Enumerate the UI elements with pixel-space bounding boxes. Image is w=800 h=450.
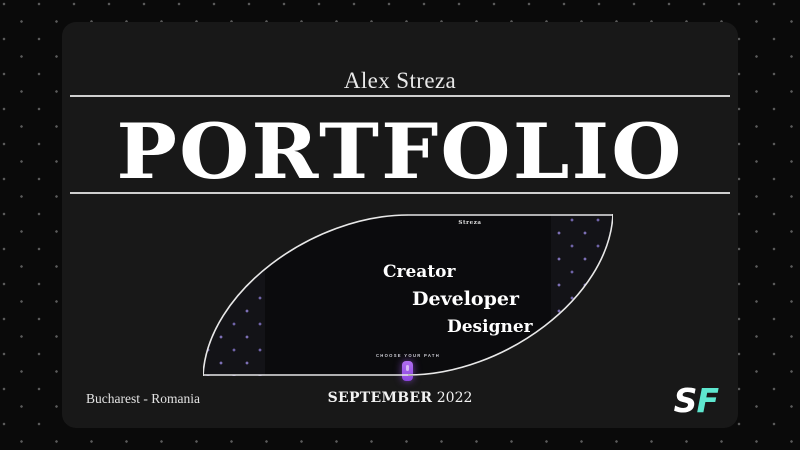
divider-top [70, 95, 730, 97]
author-name: Alex Streza [62, 68, 738, 94]
slide-card: Alex Streza PORTFOLIO Streza Creator Dev… [62, 22, 738, 428]
sf-logo-s: S [674, 381, 697, 420]
divider-bottom [70, 192, 730, 194]
sf-logo-f: F [696, 381, 718, 420]
website-preview[interactable]: Streza Creator Developer Designer CHOOSE… [203, 212, 613, 378]
date-label: SEPTEMBER 2022 [62, 390, 738, 406]
leaf-frame-icon [203, 212, 613, 378]
page-title: PORTFOLIO [62, 114, 738, 190]
date-year: 2022 [437, 390, 473, 406]
sf-logo[interactable]: SF [674, 384, 718, 417]
date-month: SEPTEMBER [328, 390, 433, 406]
